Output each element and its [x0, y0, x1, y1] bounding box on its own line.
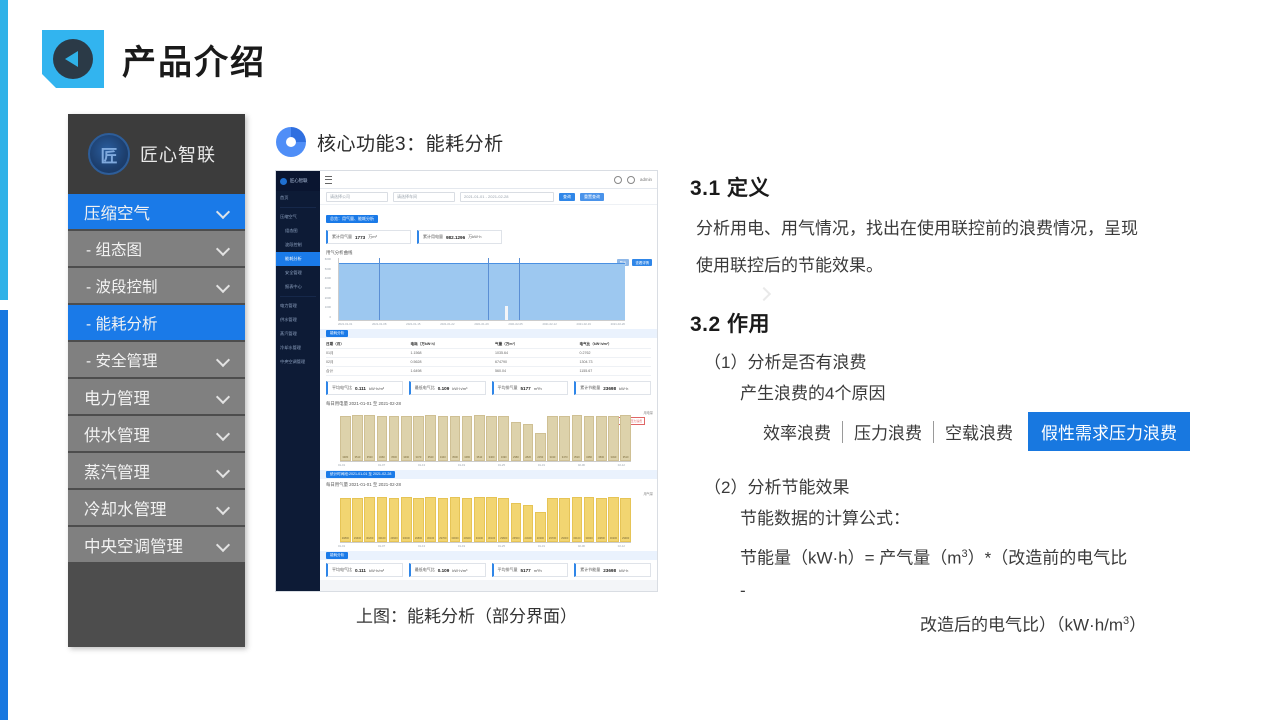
card-unit: 万m³ [368, 234, 377, 240]
bar-value-label: 3500 [389, 456, 400, 459]
workshop-select[interactable]: 请选择车间 [393, 192, 455, 202]
menu-item-label: - 波段控制 [86, 275, 157, 297]
card-value: 982.1296 [446, 235, 465, 240]
x-tick: 2021-01-01 [338, 322, 352, 326]
content-column: 3.1 定义 分析用电、用气情况，找出在使用联控前的浪费情况，呈现 使用联控后的… [690, 172, 1235, 644]
app-nav-item-2[interactable]: 组态图 [276, 224, 320, 238]
section-3-2-title: 3.2 作用 [690, 308, 1235, 338]
app-body: admin 请选择公司 请选择车间 2021-01-01 - 2021-02-2… [320, 171, 657, 591]
x-tick: 02-12 [618, 544, 625, 548]
app-nav-item-0[interactable]: 首页 [276, 191, 320, 205]
bar-fill [584, 497, 595, 542]
app-tag-row: 总览：用气量、能耗分析 [320, 205, 657, 227]
x-tick: 01-25 [498, 463, 505, 467]
bar-20: 3480 [584, 409, 595, 461]
bar-fill [572, 415, 583, 461]
menu-item-8[interactable]: 冷却水管理 [68, 490, 245, 525]
summary-card: 累计用气量 1773 万m³ [326, 230, 411, 244]
section-3-1-title: 3.1 定义 [690, 172, 1235, 202]
y-tick: 5000 [325, 267, 331, 271]
x-tick: 2021-02-12 [542, 322, 556, 326]
bar-fill [620, 415, 631, 461]
app-nav-item-label: 报表中心 [285, 284, 302, 290]
bottom-tab[interactable]: 能耗分析 [326, 552, 348, 559]
app-screenshot: 匠心智联 首页压缩空气组态图波段控制能耗分析安全管理报表中心电力管理供水管理蒸汽… [275, 170, 658, 592]
table-cell: 1.1568 [411, 351, 483, 356]
bar-18: 29900 [559, 490, 570, 542]
point-2: （2）分析节能效果 [704, 473, 1235, 498]
stat-card-unit: kW·h/m³ [369, 386, 384, 391]
bar-value-label: 29900 [559, 537, 570, 540]
power-bar-legend: 用电量 [643, 410, 653, 415]
bar-fill [401, 497, 412, 542]
app-username: admin [640, 177, 652, 182]
bottom-band: 能耗分析 [320, 551, 657, 560]
chevron-down-icon [216, 204, 231, 219]
table-cell: 01月 [326, 351, 398, 356]
app-nav-item-label: 压缩空气 [280, 214, 297, 220]
app-nav-item-1[interactable]: 压缩空气 [276, 210, 320, 224]
stat-card-value: 5177 [521, 568, 531, 573]
stat-card-label: 平均电气比 [332, 385, 352, 391]
stat-card-label: 累计节能量 [580, 567, 600, 573]
back-badge[interactable] [42, 30, 104, 88]
bar-fill [486, 416, 497, 461]
section-3-1-line-1: 分析用电、用气情况，找出在使用联控前的浪费情况，呈现 [696, 212, 1235, 245]
bar-value-label: 24900 [523, 537, 534, 540]
stat-card-0: 平均电气比0.111kW·h/m³ [326, 563, 403, 577]
reason-efficiency[interactable]: 效率浪费 [752, 419, 842, 444]
bar-fill [462, 498, 473, 542]
bar-20: 30000 [584, 490, 595, 542]
app-nav-item-7[interactable]: 电力管理 [276, 299, 320, 313]
bar-value-label: 3460 [486, 456, 497, 459]
series-dip [505, 306, 508, 320]
gas-analysis-tab[interactable]: 统计时间段:2021-01-01 至 2021-02-28 [326, 471, 395, 478]
chevron-down-icon [216, 352, 231, 367]
bar-fill [608, 497, 619, 542]
x-tick: 02-06 [578, 544, 585, 548]
page-title: 产品介绍 [122, 35, 266, 84]
y-tick: 6000 [325, 257, 331, 261]
app-nav-item-label: 组态图 [285, 228, 298, 234]
bar-fill [352, 498, 363, 542]
energy-analysis-band: 能耗分析 [320, 329, 657, 338]
bar-value-label: 2820 [523, 456, 534, 459]
stat-card-3: 累计节能量23698kW·h [574, 563, 651, 577]
bar-value-label: 3470 [559, 456, 570, 459]
bar-21: 29800 [596, 490, 607, 542]
bar-fill [498, 416, 509, 461]
bar-value-label: 3500 [450, 456, 461, 459]
card-value: 1773 [355, 235, 365, 240]
bar-12: 30100 [486, 490, 497, 542]
menu-item-0[interactable]: 压缩空气 [68, 194, 245, 229]
menu-item-7[interactable]: 蒸汽管理 [68, 453, 245, 488]
x-tick: 01-19 [458, 544, 465, 548]
x-tick: 2021-02-05 [508, 322, 522, 326]
bar-value-label: 29800 [596, 537, 607, 540]
app-nav-item-label: 安全管理 [285, 270, 302, 276]
bar-value-label: 30200 [474, 537, 485, 540]
reason-pressure[interactable]: 压力浪费 [843, 419, 933, 444]
table-col-header: 电气比（kW·h/m³） [580, 342, 652, 347]
reason-idle[interactable]: 空载浪费 [934, 419, 1024, 444]
stat-card-unit: kW·h [619, 568, 628, 573]
stat-card-value: 0.111 [355, 386, 366, 391]
nav-divider [280, 296, 316, 297]
formula-dash: - [740, 578, 1235, 604]
point-2-sub: 节能数据的计算公式： [740, 504, 1235, 529]
menu-item-9[interactable]: 中央空调管理 [68, 527, 245, 562]
bar-fill [596, 498, 607, 542]
stat-card-unit: m³/h [534, 568, 542, 573]
bar-6: 3470 [413, 409, 424, 461]
waste-reason-list: 效率浪费 压力浪费 空载浪费 假性需求压力浪费 [752, 412, 1235, 451]
bar-17: 29700 [547, 490, 558, 542]
stat-card-value: 0.109 [438, 386, 450, 391]
app-nav-item-3[interactable]: 波段控制 [276, 238, 320, 252]
bar-23: 3510 [620, 409, 631, 461]
stat-card-label: 平均排气量 [498, 567, 518, 573]
app-nav-item-label: 能耗分析 [285, 256, 302, 262]
table-cell: 1035.64 [495, 351, 567, 356]
menu-item-2[interactable]: - 波段控制 [68, 268, 245, 303]
app-nav-item-4[interactable]: 能耗分析 [276, 252, 320, 266]
stat-card-unit: kW·h/m³ [452, 386, 467, 391]
bar-value-label: 29800 [340, 537, 351, 540]
bar-fill [572, 497, 583, 542]
bar-fill [364, 497, 375, 542]
x-tick: 01-13 [418, 544, 425, 548]
y-tick: 2000 [325, 296, 331, 300]
hamburger-icon[interactable] [325, 176, 332, 184]
stat-card-label: 最低电气比 [415, 567, 435, 573]
bar-value-label: 29700 [547, 537, 558, 540]
bar-value-label: 3460 [377, 456, 388, 459]
stat-card-label: 平均电气比 [332, 567, 352, 573]
bar-13: 3490 [498, 409, 509, 461]
bar-fill [559, 416, 570, 461]
screenshot-caption: 上图：能耗分析（部分界面） [275, 602, 658, 627]
x-tick: 02-12 [618, 463, 625, 467]
bar-value-label: 30000 [401, 537, 412, 540]
menu-item-label: 压缩空气 [84, 200, 150, 224]
bar-fill [352, 415, 363, 461]
bar-3: 30100 [377, 490, 388, 542]
chevron-down-icon [216, 278, 231, 293]
stat-card-unit: kW·h/m³ [369, 568, 384, 573]
user-icon[interactable] [627, 176, 635, 184]
x-tick: 01-07 [378, 544, 385, 548]
stat-card-label: 最低电气比 [415, 385, 435, 391]
bar-fill [377, 497, 388, 542]
bottom-stat-row: 平均电气比0.111kW·h/m³最低电气比0.109kW·h/m³平均排气量5… [320, 560, 657, 580]
power-bar-title: 每日用电量 2021-01-01 至 2021-02-28 [320, 398, 657, 408]
menu-logo: 匠 匠心智联 [68, 114, 245, 194]
bar-15: 24900 [523, 490, 534, 542]
card-unit: 万kW·h [468, 234, 481, 240]
app-nav-logo-text: 匠心智联 [290, 178, 308, 184]
menu-item-label: - 能耗分析 [86, 312, 157, 334]
app-nav-item-6[interactable]: 报表中心 [276, 280, 320, 294]
y-tick: 0 [329, 315, 331, 319]
bar-fill [425, 497, 436, 542]
energy-table: 日期（月） 电耗（万kW·h） 气量（万m³） 电气比（kW·h/m³） 01月… [320, 338, 657, 378]
table-cell: 1304.73 [580, 360, 652, 365]
bar-value-label: 3510 [352, 456, 363, 459]
area-chart-box: 导出 查看详情 6000500040003000200010000 2021-0… [320, 257, 657, 329]
app-nav-item-5[interactable]: 安全管理 [276, 266, 320, 280]
bar-7: 30100 [425, 490, 436, 542]
bar-fill [401, 416, 412, 461]
area-chart-x-axis: 2021-01-012021-01-082021-01-152021-01-22… [338, 321, 625, 326]
bar-14: 2980 [511, 409, 522, 461]
chevron-down-icon [216, 241, 231, 256]
bar-10: 29900 [462, 490, 473, 542]
x-tick: 01-13 [418, 463, 425, 467]
bar-fill [620, 498, 631, 542]
app-nav-item-11[interactable]: 中央空调管理 [276, 355, 320, 369]
menu-item-3[interactable]: - 能耗分析 [68, 305, 245, 340]
pie-chart-icon [276, 127, 306, 157]
x-tick: 01-25 [498, 544, 505, 548]
bar-value-label: 2980 [511, 456, 522, 459]
bar-fill [413, 498, 424, 542]
bar-value-label: 29800 [498, 537, 509, 540]
bar-fill [608, 416, 619, 461]
menu-item-label: 中央空调管理 [84, 533, 183, 557]
chevron-down-icon [216, 463, 231, 478]
bar-fill [584, 416, 595, 461]
table-cell: 560.04 [495, 369, 567, 374]
feature-title: 核心功能3：能耗分析 [317, 129, 504, 156]
bar-value-label: 29800 [413, 537, 424, 540]
bar-value-label: 3480 [584, 456, 595, 459]
bar-0: 3480 [340, 409, 351, 461]
bar-22: 3490 [608, 409, 619, 461]
bar-fill [462, 416, 473, 461]
x-tick: 01-01 [338, 544, 345, 548]
bar-value-label: 30000 [584, 537, 595, 540]
stat-card-row: 平均电气比0.111kW·h/m³最低电气比0.109kW·h/m³平均排气量5… [320, 378, 657, 398]
bar-19: 30100 [572, 490, 583, 542]
bar-13: 29800 [498, 490, 509, 542]
stat-card-unit: kW·h [619, 386, 628, 391]
app-nav-sidebar: 匠心智联 首页压缩空气组态图波段控制能耗分析安全管理报表中心电力管理供水管理蒸汽… [276, 171, 320, 591]
bar-value-label: 2150 [535, 456, 546, 459]
stat-card-1: 最低电气比0.109kW·h/m³ [409, 563, 486, 577]
bar-22: 30200 [608, 490, 619, 542]
stat-card-1: 最低电气比0.109kW·h/m³ [409, 381, 486, 395]
bar-value-label: 3430 [547, 456, 558, 459]
bar-value-label: 3480 [462, 456, 473, 459]
bar-9: 30000 [450, 490, 461, 542]
bar-23: 29900 [620, 490, 631, 542]
x-tick: 2021-01-08 [372, 322, 386, 326]
bar-2: 30200 [364, 490, 375, 542]
bar-value-label: 30200 [364, 537, 375, 540]
bar-value-label: 30100 [425, 537, 436, 540]
app-nav-item-9[interactable]: 蒸汽管理 [276, 327, 320, 341]
bar-11: 3510 [474, 409, 485, 461]
menu-item-label: - 安全管理 [86, 349, 157, 371]
stat-card-unit: kW·h/m³ [452, 568, 467, 573]
bar-2: 3530 [364, 409, 375, 461]
bar-value-label: 30100 [486, 537, 497, 540]
brand-logo-icon: 匠 [88, 133, 130, 175]
table-row: 01月1.15681035.640.2762 [326, 349, 651, 358]
stat-card-value: 5177 [521, 386, 531, 391]
x-tick: 01-31 [538, 463, 545, 467]
x-tick: 2021-01-15 [406, 322, 420, 326]
table-row: 02月0.56286747901304.73 [326, 358, 651, 367]
menu-item-label: 冷却水管理 [84, 496, 167, 520]
x-tick: 01-31 [538, 544, 545, 548]
card-label: 累计用电量 [423, 234, 443, 240]
app-summary-cards: 累计用气量 1773 万m³ 累计用电量 982.1296 万kW·h [320, 227, 657, 247]
bar-8: 3440 [438, 409, 449, 461]
point-1-sub: 产生浪费的4个原因 [740, 379, 1235, 404]
brand-name: 匠心智联 [140, 141, 216, 167]
app-nav-item-10[interactable]: 冷却水管理 [276, 341, 320, 355]
table-cell: 0.5628 [411, 360, 483, 365]
decorative-edge-bar-bottom [0, 310, 8, 720]
gas-bar-box: 用气量 298002960030200301002990030000298003… [320, 489, 657, 551]
table-cell: 674790 [495, 360, 567, 365]
app-filter-row: 请选择公司 请选择车间 2021-01-01 - 2021-02-28 查询 重… [320, 189, 657, 205]
date-range-input[interactable]: 2021-01-01 - 2021-02-28 [460, 192, 554, 202]
stat-card-2: 平均排气量5177m³/h [492, 381, 569, 395]
bar-17: 3430 [547, 409, 558, 461]
detail-button[interactable]: 查看详情 [632, 259, 652, 266]
feature-heading: 核心功能3：能耗分析 [276, 127, 504, 157]
menu-item-1[interactable]: - 组态图 [68, 231, 245, 266]
company-select[interactable]: 请选择公司 [326, 192, 388, 202]
reset-button[interactable]: 重置查询 [580, 193, 604, 201]
summary-card: 累计用电量 982.1296 万kW·h [417, 230, 502, 244]
x-tick: 01-01 [338, 463, 345, 467]
gas-bar-title: 每日用气量 2021-01-01 至 2021-02-28 [320, 479, 657, 489]
menu-item-label: 供水管理 [84, 422, 150, 446]
bar-value-label: 29600 [352, 537, 363, 540]
slide-header: 产品介绍 [42, 30, 266, 88]
stat-card-unit: m³/h [534, 386, 542, 391]
bar-value-label: 30000 [450, 537, 461, 540]
x-tick: 2021-01-22 [440, 322, 454, 326]
section-3-1-line-2: 使用联控后的节能效果。 [696, 249, 1235, 282]
menu-item-6[interactable]: 供水管理 [68, 416, 245, 451]
bar-value-label: 3470 [413, 456, 424, 459]
menu-item-4[interactable]: - 安全管理 [68, 342, 245, 377]
card-label: 累计用气量 [332, 234, 352, 240]
bar-9: 3500 [450, 409, 461, 461]
product-menu-card: 匠 匠心智联 压缩空气- 组态图- 波段控制- 能耗分析- 安全管理电力管理供水… [68, 114, 245, 647]
menu-item-label: 电力管理 [84, 385, 150, 409]
bar-5: 30000 [401, 490, 412, 542]
bar-fill [377, 416, 388, 461]
app-nav-items: 首页压缩空气组态图波段控制能耗分析安全管理报表中心电力管理供水管理蒸汽管理冷却水… [276, 191, 320, 369]
chevron-down-icon [216, 500, 231, 515]
table-cell: 0.2762 [580, 351, 652, 356]
gas-bar-legend: 用气量 [643, 491, 653, 496]
bar-14: 26500 [511, 490, 522, 542]
bar-value-label: 29900 [389, 537, 400, 540]
bar-6: 29800 [413, 490, 424, 542]
app-nav-item-label: 电力管理 [280, 303, 297, 309]
bar-value-label: 3530 [364, 456, 375, 459]
bar-fill [559, 498, 570, 542]
table-col-header: 气量（万m³） [495, 342, 567, 347]
search-icon[interactable] [614, 176, 622, 184]
bar-fill [340, 416, 351, 461]
bar-value-label: 30200 [608, 537, 619, 540]
bar-1: 3510 [352, 409, 363, 461]
bar-fill [340, 498, 351, 542]
search-button[interactable]: 查询 [559, 193, 575, 201]
play-back-triangle-icon [53, 39, 93, 79]
energy-analysis-tab[interactable]: 能耗分析 [326, 330, 348, 337]
overview-tag[interactable]: 总览：用气量、能耗分析 [326, 215, 378, 223]
stat-card-value: 0.109 [438, 568, 450, 573]
point-1: （1）分析是否有浪费 [704, 348, 1235, 373]
bar-15: 2820 [523, 409, 534, 461]
app-nav-logo: 匠心智联 [276, 171, 320, 191]
reason-false-demand-highlight[interactable]: 假性需求压力浪费 [1028, 412, 1190, 451]
bar-value-label: 3520 [572, 456, 583, 459]
app-nav-item-label: 首页 [280, 195, 288, 201]
bar-value-label: 3510 [474, 456, 485, 459]
bar-19: 3520 [572, 409, 583, 461]
bar-value-label: 20300 [535, 537, 546, 540]
gas-bar-x-axis: 01-0101-0701-1301-1901-2501-3102-0602-12 [338, 543, 625, 548]
bar-1: 29600 [352, 490, 363, 542]
bar-fill [498, 498, 509, 542]
table-cell: 合计 [326, 369, 398, 374]
bar-7: 3520 [425, 409, 436, 461]
bar-value-label: 3500 [596, 456, 607, 459]
app-nav-item-label: 蒸汽管理 [280, 331, 297, 337]
stat-card-value: 23698 [603, 386, 616, 391]
table-cell: 02月 [326, 360, 398, 365]
bar-fill [474, 497, 485, 542]
chevron-down-icon [216, 537, 231, 552]
bar-value-label: 3510 [620, 456, 631, 459]
bar-12: 3460 [486, 409, 497, 461]
bar-fill [450, 416, 461, 462]
menu-item-label: - 组态图 [86, 238, 142, 260]
bar-value-label: 3520 [425, 456, 436, 459]
bar-4: 3500 [389, 409, 400, 461]
app-nav-item-label: 供水管理 [280, 317, 297, 323]
bar-8: 29700 [438, 490, 449, 542]
menu-list: 压缩空气- 组态图- 波段控制- 能耗分析- 安全管理电力管理供水管理蒸汽管理冷… [68, 194, 245, 562]
stat-card-3: 累计节能量23698kW·h [574, 381, 651, 395]
app-nav-item-8[interactable]: 供水管理 [276, 313, 320, 327]
bar-fill [438, 498, 449, 542]
menu-item-5[interactable]: 电力管理 [68, 379, 245, 414]
app-logo-icon [280, 178, 287, 185]
bar-value-label: 30100 [572, 537, 583, 540]
stat-card-0: 平均电气比0.111kW·h/m³ [326, 381, 403, 395]
power-bar-plot: 假性需求压力浪费 3480351035303460350034903470352… [340, 409, 631, 462]
bar-value-label: 26500 [511, 537, 522, 540]
bar-5: 3490 [401, 409, 412, 461]
power-bar-x-axis: 01-0101-0701-1301-1901-2501-3102-0602-12 [338, 462, 625, 467]
stat-card-2: 平均排气量5177m³/h [492, 563, 569, 577]
formula-line-1: 节能量（kW·h）= 产气量（m3）*（改造前的电气比 [740, 537, 1235, 576]
gas-analysis-band: 统计时间段:2021-01-01 至 2021-02-28 [320, 470, 657, 479]
